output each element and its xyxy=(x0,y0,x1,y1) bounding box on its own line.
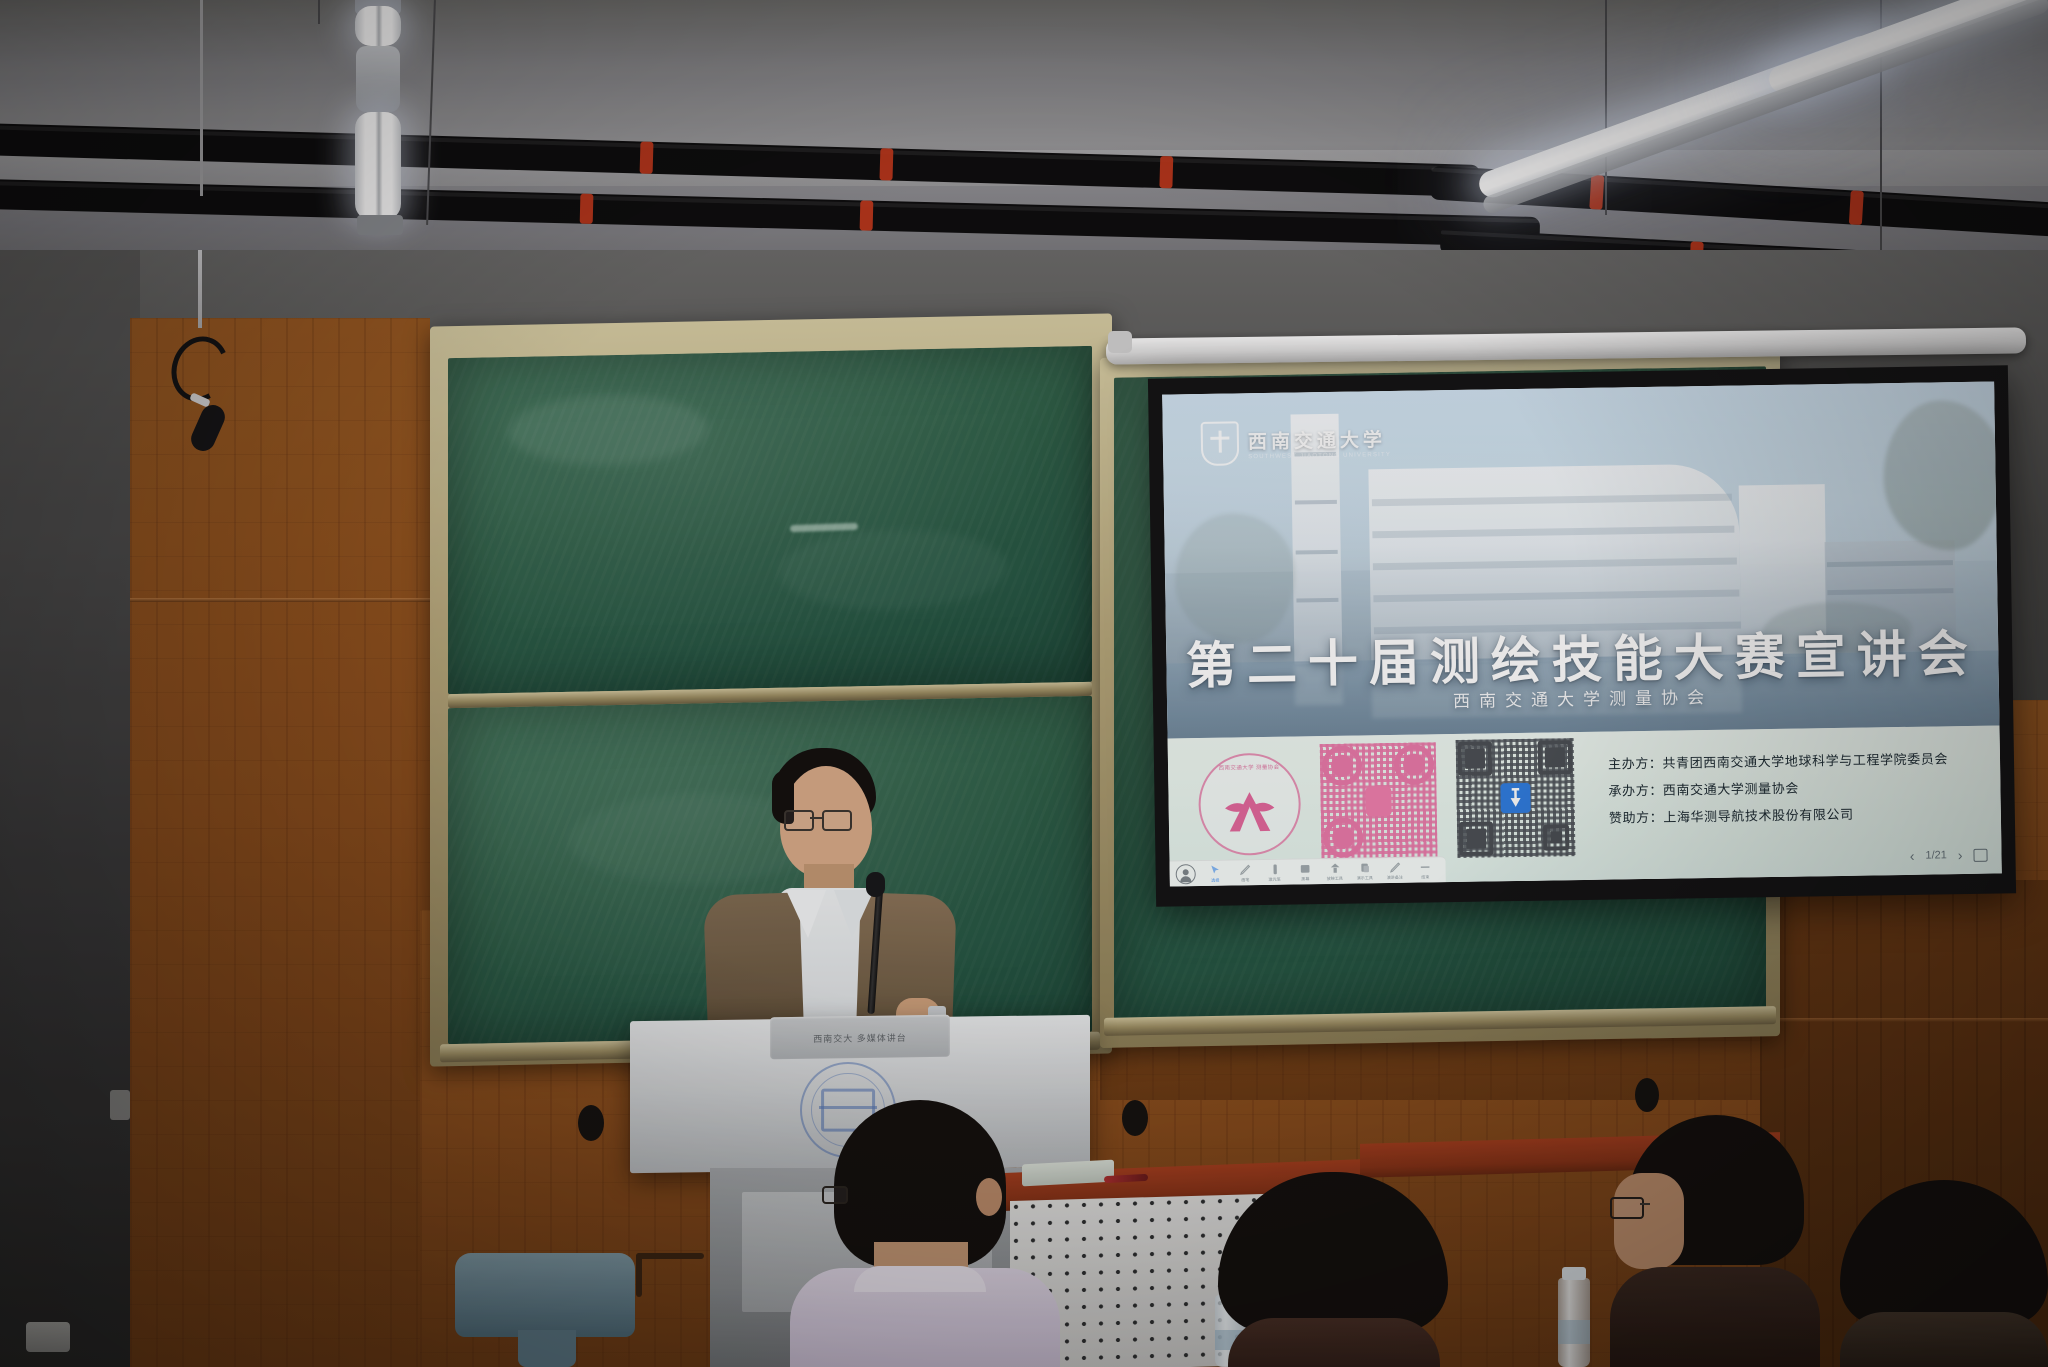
classroom-chair[interactable] xyxy=(455,1253,635,1337)
slide-info-band: 西南交通大学 测量协会 xyxy=(1168,726,2002,887)
wall-socket[interactable] xyxy=(26,1322,70,1352)
side-wall-left xyxy=(0,250,140,1367)
audience-glasses-1 xyxy=(822,1186,846,1200)
chair-stem xyxy=(518,1330,576,1367)
light-suspension-wire-left xyxy=(318,0,320,24)
audience-glasses-3 xyxy=(1610,1197,1666,1215)
toolbar-item-present-tools[interactable]: 演示工具 xyxy=(1350,861,1380,881)
wood-panel-seam-left xyxy=(130,598,430,602)
slide-photo-campus: 西南交通大学 SOUTHWEST JIAOTONG UNIVERSITY 第二十… xyxy=(1162,381,1999,738)
desk-rail-left xyxy=(636,1253,704,1259)
wps-presenter-toolbar[interactable]: 选择 画笔 激光笔 黑幕 xyxy=(1170,856,1446,886)
organizer-line: 赞助方：上海华测导航技术股份有限公司 xyxy=(1609,807,1949,825)
next-slide-button[interactable]: › xyxy=(1958,848,1963,862)
audience-member-right xyxy=(1610,1115,1820,1367)
toolbar-item-laser[interactable]: 激光笔 xyxy=(1260,863,1290,883)
fluorescent-light-vertical-lower xyxy=(355,112,401,220)
toolbar-item-blackscreen[interactable]: 黑幕 xyxy=(1290,862,1320,882)
prev-slide-button[interactable]: ‹ xyxy=(1910,849,1915,863)
toolbar-item-select[interactable]: 选择 xyxy=(1200,864,1230,884)
light-suspension-wire-right xyxy=(1605,0,1607,215)
wall-hook-1 xyxy=(578,1105,604,1141)
audience-hair-4 xyxy=(1840,1180,2048,1326)
audience-member-center xyxy=(1218,1172,1448,1367)
fluorescent-light-housing xyxy=(356,46,400,112)
audience-ear-1 xyxy=(976,1178,1002,1216)
slide-pager[interactable]: ‹ 1/21 › xyxy=(1910,848,1988,863)
blackscreen-icon xyxy=(1298,862,1311,875)
qr-code-wechat[interactable] xyxy=(1456,739,1576,859)
presenter-notes-icon[interactable] xyxy=(1973,848,1987,861)
fluorescent-light-vertical xyxy=(355,6,401,46)
audience-hair-2 xyxy=(1218,1172,1448,1332)
pen-icon xyxy=(1238,863,1251,876)
desk-rail-left-vert xyxy=(636,1253,642,1297)
classroom-scene: 西南交通大学 SOUTHWEST JIAOTONG UNIVERSITY 第二十… xyxy=(0,0,2048,1367)
notes-icon xyxy=(1388,861,1401,874)
audience-member-far-right xyxy=(1840,1180,2048,1367)
ceiling-hanger-rod xyxy=(200,0,203,196)
wall-hook-2 xyxy=(1122,1100,1148,1136)
organizer-line: 承办方：西南交通大学测量协会 xyxy=(1608,780,1948,798)
audience-member-front-left xyxy=(790,1100,1060,1367)
audience-shoulders-4 xyxy=(1840,1312,2048,1367)
presentation-slide: 西南交通大学 SOUTHWEST JIAOTONG UNIVERSITY 第二十… xyxy=(1162,381,2002,886)
audience-collar-1 xyxy=(854,1266,986,1292)
association-emblem-icon xyxy=(1213,785,1286,839)
organizer-list: 主办方：共青团西南交通大学地球科学与工程学院委员会 承办方：西南交通大学测量协会… xyxy=(1608,753,1949,839)
wood-panel-wall-left xyxy=(130,318,430,1367)
cursor-icon xyxy=(1208,864,1221,877)
end-icon xyxy=(1418,860,1431,873)
university-shield-icon xyxy=(1201,421,1240,466)
association-logo: 西南交通大学 测量协会 xyxy=(1198,753,1302,857)
light-cap-bottom xyxy=(357,215,403,235)
podium-name-plate: 西南交大 多媒体讲台 xyxy=(770,1015,950,1060)
university-name-cn: 西南交通大学 xyxy=(1248,424,1391,453)
toolbar-item-show-tools[interactable]: 放映工具 xyxy=(1320,862,1350,882)
laser-icon xyxy=(1268,863,1281,876)
roller-end-cap-left xyxy=(1108,331,1132,353)
wall-plate-left xyxy=(110,1090,130,1120)
bottle-label-right xyxy=(1558,1320,1590,1344)
toolbar-item-notes[interactable]: 演讲备注 xyxy=(1380,861,1410,881)
qr-brand-badge-icon xyxy=(1500,783,1530,813)
toolbar-item-pen[interactable]: 画笔 xyxy=(1230,863,1260,883)
chalkboard-upper xyxy=(448,346,1092,694)
wall-hook-3 xyxy=(1635,1078,1659,1112)
slide-page-indicator: 1/21 xyxy=(1925,849,1947,861)
audience-shoulders-3 xyxy=(1610,1267,1820,1367)
podium-microphone xyxy=(866,872,885,897)
ceiling-mic-cable xyxy=(198,250,202,328)
audience-face-3 xyxy=(1614,1173,1684,1269)
user-avatar-icon[interactable] xyxy=(1176,864,1196,884)
audience-shoulders-2 xyxy=(1228,1318,1440,1367)
presenter xyxy=(700,748,960,1058)
podium-plate-text: 西南交大 多媒体讲台 xyxy=(770,1030,950,1046)
qr-code-pink[interactable] xyxy=(1320,743,1438,861)
projector-screen[interactable]: 西南交通大学 SOUTHWEST JIAOTONG UNIVERSITY 第二十… xyxy=(1162,381,2002,886)
slide-university-logo: 西南交通大学 SOUTHWEST JIAOTONG UNIVERSITY xyxy=(1201,419,1392,466)
presenter-glasses xyxy=(784,810,872,830)
association-logo-text: 西南交通大学 测量协会 xyxy=(1200,763,1298,773)
organizer-line: 主办方：共青团西南交通大学地球科学与工程学院委员会 xyxy=(1608,753,1948,771)
bottle-cap-right xyxy=(1562,1267,1586,1280)
present-icon xyxy=(1358,861,1371,874)
tools-icon xyxy=(1328,862,1341,875)
toolbar-item-end[interactable]: 结束 xyxy=(1410,860,1440,880)
